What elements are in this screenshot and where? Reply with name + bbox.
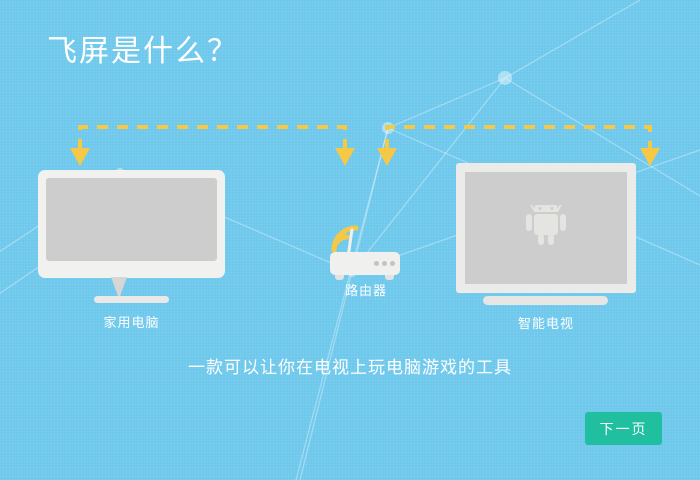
device-router-label: 路由器 xyxy=(304,280,428,299)
slide-canvas: 飞屏是什么？ 家用电脑 路由器 xyxy=(0,0,700,480)
router-indicator-dot xyxy=(382,261,387,266)
flow-path-router-to-tv xyxy=(387,127,650,150)
android-robot-icon xyxy=(523,205,569,251)
computer-screen xyxy=(46,178,217,261)
next-page-button[interactable]: 下一页 xyxy=(585,412,662,445)
tv-screen xyxy=(465,172,627,284)
television-icon xyxy=(456,163,636,293)
desktop-monitor-icon xyxy=(38,170,225,278)
page-title: 飞屏是什么？ xyxy=(47,26,239,70)
tv-stand-base xyxy=(483,296,608,305)
device-computer-label: 家用电脑 xyxy=(38,312,225,331)
device-tv-label: 智能电视 xyxy=(456,313,636,332)
flow-path-computer-to-router xyxy=(80,127,345,150)
device-router: 路由器 xyxy=(318,212,414,292)
device-computer: 家用电脑 xyxy=(38,170,225,305)
router-indicator-dot xyxy=(374,261,379,266)
page-subtitle: 一款可以让你在电视上玩电脑游戏的工具 xyxy=(0,353,700,378)
router-indicator-dot xyxy=(390,261,395,266)
monitor-stand-base xyxy=(94,296,169,303)
device-tv: 智能电视 xyxy=(456,163,636,303)
